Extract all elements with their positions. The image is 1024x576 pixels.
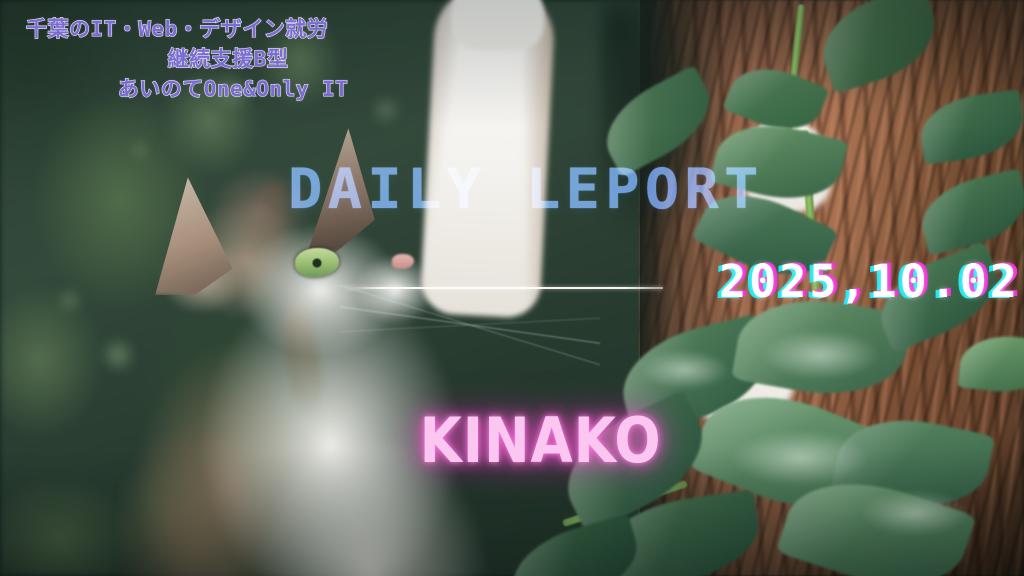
organization-line-1: 千葉のIT・Web・デザイン就労 bbox=[18, 14, 438, 44]
thumbnail-canvas: 千葉のIT・Web・デザイン就労 継続支援B型 あいのてOne&Only IT … bbox=[0, 0, 1024, 576]
organization-line-3: あいのてOne&Only IT bbox=[18, 74, 438, 104]
page-title: DAILY LEPORT bbox=[288, 157, 764, 221]
date-badge: 2025,10.02 2025,10.02 2025,10.02 bbox=[640, 256, 1020, 308]
divider-line bbox=[345, 287, 663, 289]
organization-line-2: 継続支援B型 bbox=[18, 44, 438, 74]
date-text: 2025,10.02 bbox=[640, 256, 1020, 308]
organization-name-block: 千葉のIT・Web・デザイン就労 継続支援B型 あいのてOne&Only IT bbox=[18, 14, 438, 104]
subject-name: KINAKO bbox=[420, 404, 649, 477]
